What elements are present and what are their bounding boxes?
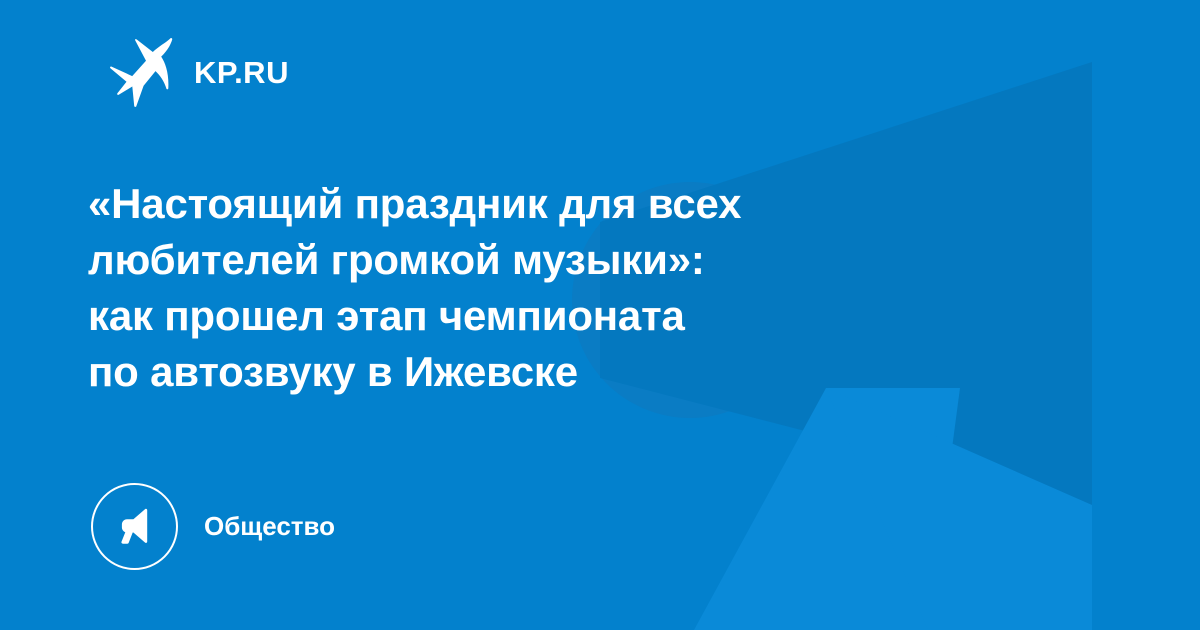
headline-line-2: любителей громкой музыки»:: [88, 232, 928, 288]
category-badge[interactable]: Общество: [91, 482, 335, 570]
category-icon-circle: [91, 483, 178, 570]
headline-line-4: по автозвуку в Ижевске: [88, 344, 928, 400]
article-share-card: KP.RU «Настоящий праздник для всех любит…: [0, 0, 1200, 630]
brand-name-label: KP.RU: [194, 57, 289, 88]
category-label: Общество: [204, 513, 335, 539]
swallow-bird-icon: [108, 36, 176, 108]
headline-line-1: «Настоящий праздник для всех: [88, 176, 928, 232]
headline-line-3: как прошел этап чемпионата: [88, 288, 928, 344]
article-headline: «Настоящий праздник для всех любителей г…: [88, 176, 928, 400]
brand-logo[interactable]: KP.RU: [108, 36, 289, 108]
megaphone-icon: [113, 504, 157, 548]
